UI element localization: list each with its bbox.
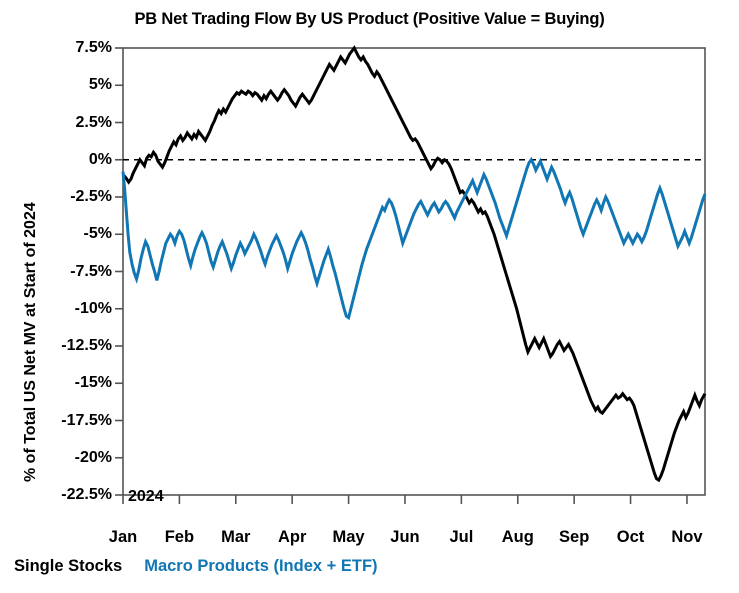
series-line-single-stocks (123, 48, 705, 480)
legend-item-macro-products[interactable]: Macro Products (Index + ETF) (144, 557, 377, 576)
y-tick-label: 5% (89, 77, 112, 93)
series-line-macro-products (123, 160, 705, 318)
x-tick-label: Apr (262, 528, 322, 547)
x-tick-label: Nov (657, 528, 717, 547)
x-tick-label: Sep (544, 528, 604, 547)
x-tick-label: Feb (149, 528, 209, 547)
y-tick-label: -5% (84, 226, 112, 242)
x-tick-label: Jul (431, 528, 491, 547)
y-axis-tick-labels: 7.5%5%2.5%0%-2.5%-5%-7.5%-10%-12.5%-15%-… (0, 0, 112, 593)
y-tick-label: -17.5% (61, 413, 112, 429)
y-tick-label: -22.5% (61, 487, 112, 503)
x-tick-label: Jan (93, 528, 153, 547)
chart-legend: Single Stocks Macro Products (Index + ET… (14, 557, 378, 576)
x-tick-label: Mar (206, 528, 266, 547)
y-tick-label: 7.5% (76, 40, 112, 56)
y-tick-label: -10% (75, 301, 112, 317)
x-tick-label: May (319, 528, 379, 547)
year-annotation: 2024 (128, 488, 164, 506)
y-tick-label: -2.5% (70, 189, 112, 205)
x-tick-label: Oct (601, 528, 661, 547)
chart-container: PB Net Trading Flow By US Product (Posit… (0, 0, 739, 593)
x-tick-label: Aug (488, 528, 548, 547)
plot-frame (123, 48, 705, 495)
y-tick-label: -15% (75, 375, 112, 391)
y-tick-label: -20% (75, 450, 112, 466)
y-tick-label: -7.5% (70, 264, 112, 280)
legend-item-single-stocks[interactable]: Single Stocks (14, 557, 122, 576)
y-tick-label: -12.5% (61, 338, 112, 354)
x-tick-label: Jun (375, 528, 435, 547)
y-tick-label: 0% (89, 152, 112, 168)
y-tick-label: 2.5% (76, 115, 112, 131)
